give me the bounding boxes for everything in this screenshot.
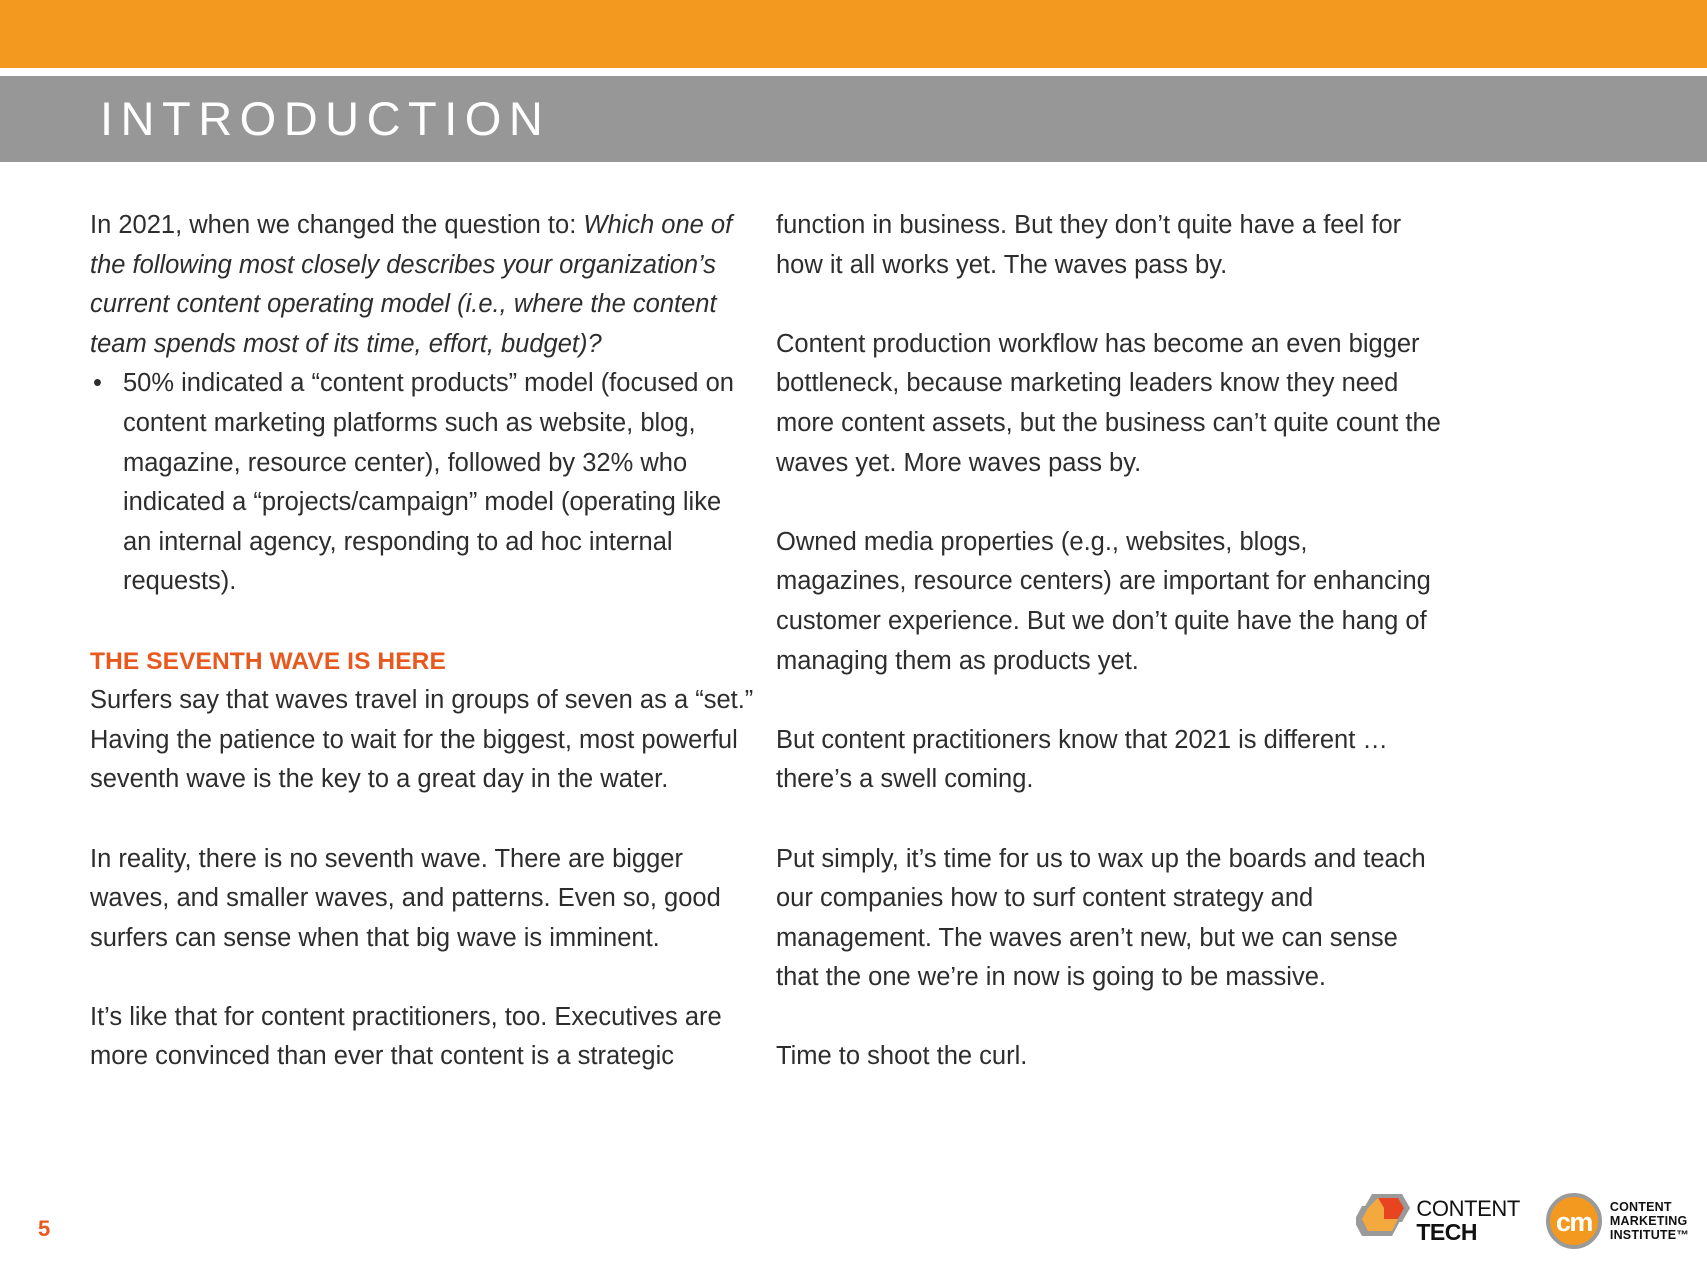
right-paragraph-6: Time to shoot the curl. [776, 1037, 1441, 1077]
cmi-word-2: MARKETING [1610, 1214, 1689, 1228]
top-orange-band [0, 0, 1707, 68]
cmi-word-3: INSTITUTE™ [1610, 1228, 1689, 1242]
footer-logos: CONTENT TECH cm CONTENT MARKETING INSTIT… [1356, 1192, 1689, 1250]
left-paragraph-2: In reality, there is no seventh wave. Th… [90, 840, 755, 959]
list-item: • 50% indicated a “content products” mod… [90, 364, 755, 602]
left-column: In 2021, when we changed the question to… [90, 206, 755, 1077]
right-paragraph-1: function in business. But they don’t qui… [776, 206, 1441, 285]
right-paragraph-3: Owned media properties (e.g., websites, … [776, 523, 1441, 681]
section-subheading: THE SEVENTH WAVE IS HERE [90, 642, 755, 682]
intro-question-lead: In 2021, when we changed the question to… [90, 211, 583, 239]
bullet-text: 50% indicated a “content products” model… [123, 369, 734, 595]
content-tech-hexagon-icon [1356, 1192, 1410, 1250]
cmi-wordmark: CONTENT MARKETING INSTITUTE™ [1610, 1200, 1689, 1242]
page-number: 5 [38, 1216, 50, 1242]
bullet-dot-icon: • [93, 364, 102, 404]
right-column: function in business. But they don’t qui… [776, 206, 1441, 1077]
left-paragraph-1: Surfers say that waves travel in groups … [90, 681, 755, 800]
content-tech-word-2: TECH [1416, 1221, 1520, 1244]
page-title: INTRODUCTION [100, 88, 550, 150]
content-tech-logo: CONTENT TECH [1356, 1192, 1520, 1250]
right-paragraph-5: Put simply, it’s time for us to wax up t… [776, 840, 1441, 998]
right-paragraph-4: But content practitioners know that 2021… [776, 721, 1441, 800]
cmi-word-1: CONTENT [1610, 1200, 1689, 1214]
left-paragraph-3: It’s like that for content practitioners… [90, 998, 755, 1077]
content-tech-word-1: CONTENT [1416, 1198, 1520, 1220]
cmi-circle-icon: cm [1546, 1193, 1602, 1249]
intro-question-paragraph: In 2021, when we changed the question to… [90, 206, 755, 364]
band-separator [0, 68, 1707, 76]
cmi-monogram: cm [1556, 1209, 1592, 1236]
content-tech-wordmark: CONTENT TECH [1416, 1198, 1520, 1244]
content-marketing-institute-logo: cm CONTENT MARKETING INSTITUTE™ [1546, 1193, 1689, 1249]
right-paragraph-2: Content production workflow has become a… [776, 325, 1441, 483]
findings-bullet-list: • 50% indicated a “content products” mod… [90, 364, 755, 602]
